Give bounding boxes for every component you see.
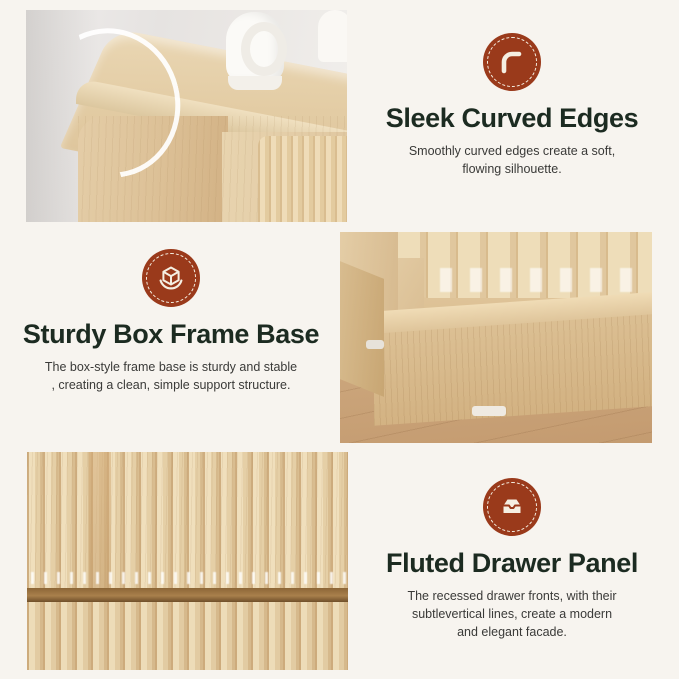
wood-grain-knot <box>89 452 111 588</box>
cabinet-foot <box>366 340 384 349</box>
fluted-drawer-front-photo <box>27 452 348 670</box>
feature-description-line: , creating a clean, simple support struc… <box>21 376 321 394</box>
curved-corner-icon <box>483 33 541 91</box>
feature-icon-wrap <box>362 33 662 91</box>
drawer-tray-icon <box>483 478 541 536</box>
base-wood-grain <box>374 314 652 425</box>
feature-description-line: subtlevertical lines, create a modern <box>381 605 643 623</box>
flute-bottom-highlights <box>27 572 348 584</box>
box-on-base-icon <box>142 249 200 307</box>
feature-title: Sturdy Box Frame Base <box>10 319 332 349</box>
vase-foot <box>228 76 282 90</box>
cabinet-foot <box>472 406 506 416</box>
cabinet-fluted-section <box>258 136 347 222</box>
feature-fluted-drawer-panel: Fluted Drawer Panel The recessed drawer … <box>362 478 662 642</box>
drawer-gap-shadow <box>27 588 348 602</box>
feature-description-line: The box-style frame base is sturdy and s… <box>21 358 321 376</box>
cabinet-curved-corner-photo <box>26 10 347 222</box>
feature-icon-wrap <box>362 478 662 536</box>
feature-title: Sleek Curved Edges <box>362 103 662 133</box>
feature-description-line: flowing silhouette. <box>382 160 642 178</box>
feature-description: The box-style frame base is sturdy and s… <box>21 358 321 394</box>
feature-description-line: and elegant facade. <box>381 623 643 641</box>
feature-curved-edges: Sleek Curved Edges Smoothly curved edges… <box>362 33 662 178</box>
secondary-ceramic-object <box>318 10 347 62</box>
vase-handle <box>241 22 287 76</box>
flute-highlight-dimples <box>402 268 650 292</box>
infographic-page: Sleek Curved Edges Smoothly curved edges… <box>0 0 679 679</box>
feature-icon-wrap <box>10 249 332 307</box>
feature-box-frame-base: Sturdy Box Frame Base The box-style fram… <box>10 249 332 394</box>
feature-description-line: Smoothly curved edges create a soft, <box>382 142 642 160</box>
feature-description-line: The recessed drawer fronts, with their <box>381 587 643 605</box>
feature-description: Smoothly curved edges create a soft, flo… <box>382 142 642 178</box>
cabinet-box-frame-base-photo <box>340 232 652 443</box>
feature-description: The recessed drawer fronts, with their s… <box>381 587 643 641</box>
ceramic-vase <box>222 12 290 96</box>
lower-fluted-drawer-front <box>27 602 348 670</box>
box-frame-side <box>340 261 384 397</box>
feature-title: Fluted Drawer Panel <box>362 548 662 578</box>
